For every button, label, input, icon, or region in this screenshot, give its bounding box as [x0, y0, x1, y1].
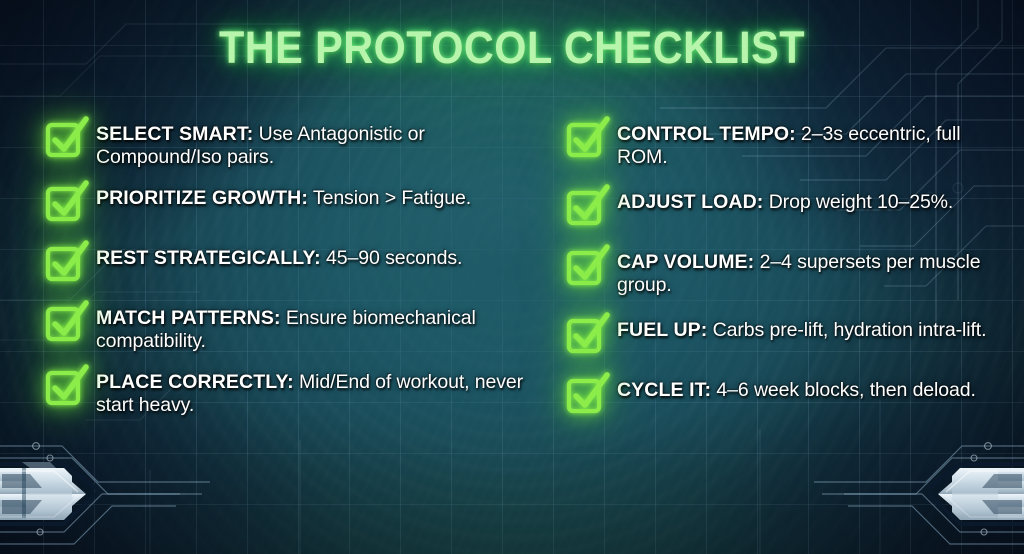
list-item-lead: FUEL UP:: [617, 319, 707, 341]
list-item-lead: CYCLE IT:: [617, 379, 711, 401]
list-item-text: FUEL UP: Carbs pre-lift, hydration intra…: [617, 314, 1006, 342]
list-item-body: Drop weight 10–25%.: [763, 191, 953, 213]
list-item-text: CYCLE IT: 4–6 week blocks, then deload.: [617, 374, 1006, 402]
checkbox-checked-icon[interactable]: [44, 184, 88, 224]
list-item-text: MATCH PATTERNS: Ensure biomechanical com…: [96, 302, 525, 352]
list-item-body: Tension > Fatigue.: [308, 187, 471, 209]
list-item[interactable]: PRIORITIZE GROWTH: Tension > Fatigue.: [44, 182, 525, 224]
list-item-lead: PRIORITIZE GROWTH:: [96, 187, 308, 209]
list-item[interactable]: CYCLE IT: 4–6 week blocks, then deload.: [565, 374, 1006, 416]
checkbox-checked-icon[interactable]: [565, 188, 609, 228]
decorative-bar-bottom-right: [814, 424, 1024, 554]
list-item[interactable]: ADJUST LOAD: Drop weight 10–25%.: [565, 186, 1006, 228]
list-item-text: PLACE CORRECTLY: Mid/End of workout, nev…: [96, 366, 525, 416]
list-item[interactable]: CAP VOLUME: 2–4 supersets per muscle gro…: [565, 246, 1006, 296]
list-item-lead: MATCH PATTERNS:: [96, 307, 281, 329]
checklist-column-right: CONTROL TEMPO: 2–3s eccentric, full ROM.…: [525, 118, 1006, 434]
list-item-text: CAP VOLUME: 2–4 supersets per muscle gro…: [617, 246, 1006, 296]
list-item-body: Carbs pre-lift, hydration intra-lift.: [707, 319, 986, 341]
checkbox-checked-icon[interactable]: [565, 248, 609, 288]
list-item[interactable]: FUEL UP: Carbs pre-lift, hydration intra…: [565, 314, 1006, 356]
list-item-lead: CONTROL TEMPO:: [617, 123, 796, 145]
list-item-lead: REST STRATEGICALLY:: [96, 247, 321, 269]
checklist-column-left: SELECT SMART: Use Antagonistic or Compou…: [44, 118, 525, 434]
list-item-text: PRIORITIZE GROWTH: Tension > Fatigue.: [96, 182, 525, 210]
list-item[interactable]: SELECT SMART: Use Antagonistic or Compou…: [44, 118, 525, 168]
checkbox-checked-icon[interactable]: [44, 368, 88, 408]
checklist-columns: SELECT SMART: Use Antagonistic or Compou…: [0, 118, 1024, 434]
checkbox-checked-icon[interactable]: [565, 376, 609, 416]
page-title: THE PROTOCOL CHECKLIST: [41, 22, 983, 74]
list-item-body: 45–90 seconds.: [321, 247, 463, 269]
decorative-bar-bottom-left: [0, 424, 210, 554]
list-item[interactable]: CONTROL TEMPO: 2–3s eccentric, full ROM.: [565, 118, 1006, 168]
checkbox-checked-icon[interactable]: [44, 304, 88, 344]
list-item[interactable]: PLACE CORRECTLY: Mid/End of workout, nev…: [44, 366, 525, 416]
list-item-text: CONTROL TEMPO: 2–3s eccentric, full ROM.: [617, 118, 1006, 168]
list-item-lead: CAP VOLUME:: [617, 251, 754, 273]
list-item-lead: PLACE CORRECTLY:: [96, 371, 294, 393]
list-item-text: SELECT SMART: Use Antagonistic or Compou…: [96, 118, 525, 168]
checkbox-checked-icon[interactable]: [44, 120, 88, 160]
list-item-lead: SELECT SMART:: [96, 123, 253, 145]
list-item-lead: ADJUST LOAD:: [617, 191, 763, 213]
list-item-text: ADJUST LOAD: Drop weight 10–25%.: [617, 186, 1006, 214]
list-item[interactable]: MATCH PATTERNS: Ensure biomechanical com…: [44, 302, 525, 352]
list-item[interactable]: REST STRATEGICALLY: 45–90 seconds.: [44, 242, 525, 284]
checkbox-checked-icon[interactable]: [44, 244, 88, 284]
checkbox-checked-icon[interactable]: [565, 316, 609, 356]
slide-root: THE PROTOCOL CHECKLIST SELECT SMART: Use…: [0, 0, 1024, 554]
list-item-body: 4–6 week blocks, then deload.: [711, 379, 976, 401]
checkbox-checked-icon[interactable]: [565, 120, 609, 160]
list-item-text: REST STRATEGICALLY: 45–90 seconds.: [96, 242, 525, 270]
